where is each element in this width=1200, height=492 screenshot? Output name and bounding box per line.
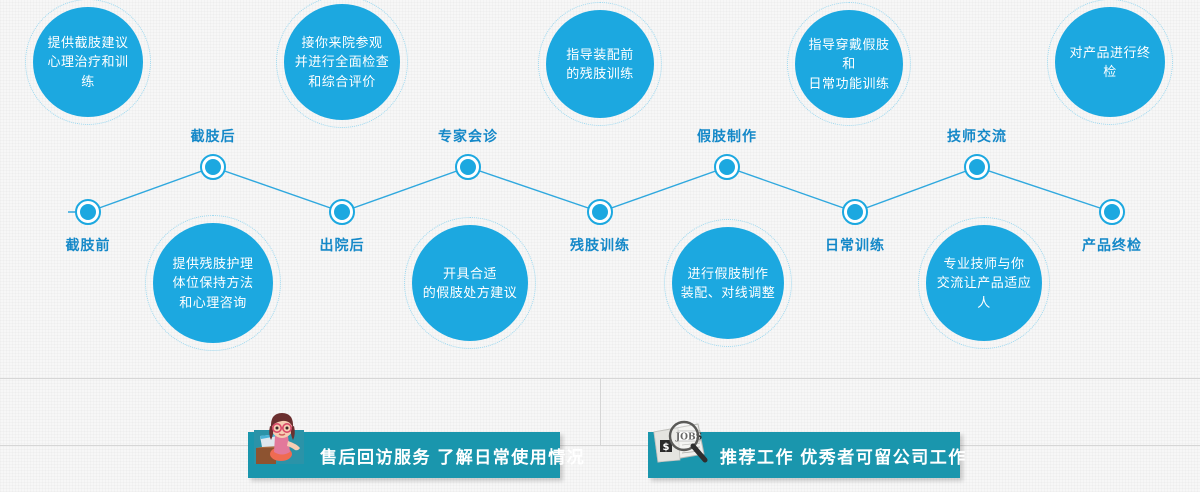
flow-node-prosthesis-make[interactable]: [714, 154, 740, 180]
bubble-stump-care-line: 提供残肢护理: [172, 254, 253, 274]
bubble-stump-training[interactable]: 指导装配前的残肢训练: [546, 10, 654, 118]
bubble-wear-training-line: 指导穿戴假肢和: [803, 35, 895, 74]
flow-node-post-discharge[interactable]: [329, 199, 355, 225]
flow-node-daily-training[interactable]: [842, 199, 868, 225]
bubble-fabrication-line: 进行假肢制作: [681, 264, 776, 284]
bubble-post-amputation[interactable]: 接你来院参观并进行全面检查和综合评价: [284, 4, 400, 120]
after-sales-banner[interactable]: 售后回访服务 了解日常使用情况: [248, 432, 560, 478]
bubble-prescription-label: 开具合适的假肢处方建议: [415, 264, 526, 303]
flow-node-pre-amputation[interactable]: [75, 199, 101, 225]
bubble-pre-amputation-line: 心理治疗和训练: [41, 52, 135, 91]
bubble-technician-line: 交流让产品适应人: [934, 273, 1034, 312]
bubble-final-check-line: 对产品进行终检: [1063, 43, 1157, 82]
woman-at-desk-icon: [248, 410, 310, 472]
flow-node-label-prosthesis-make: 假肢制作: [697, 126, 757, 146]
bubble-stump-care-line: 体位保持方法: [172, 273, 253, 293]
bubble-technician-line: 专业技师与你: [934, 254, 1034, 274]
flow-node-expert-consult[interactable]: [455, 154, 481, 180]
bubble-fabrication-label: 进行假肢制作装配、对线调整: [673, 264, 784, 303]
bubble-prescription[interactable]: 开具合适的假肢处方建议: [412, 225, 528, 341]
flow-node-label-expert-consult: 专家会诊: [438, 126, 498, 146]
divider-mid-rule: [0, 445, 1200, 446]
bubble-wear-training[interactable]: 指导穿戴假肢和日常功能训练: [795, 10, 903, 118]
bubble-stump-training-line: 指导装配前: [566, 45, 634, 65]
flow-node-final-inspection[interactable]: [1099, 199, 1125, 225]
flow-diagram-stage: 提供截肢建议心理治疗和训练接你来院参观并进行全面检查和综合评价指导装配前的残肢训…: [0, 0, 1200, 492]
bubble-final-check[interactable]: 对产品进行终检: [1055, 7, 1165, 117]
bubble-technician-label: 专业技师与你交流让产品适应人: [926, 254, 1042, 313]
bubble-post-amputation-label: 接你来院参观并进行全面检查和综合评价: [287, 33, 398, 92]
flow-node-label-stump-training: 残肢训练: [570, 235, 630, 255]
bubble-prescription-line: 的假肢处方建议: [423, 283, 518, 303]
flow-node-post-amputation[interactable]: [200, 154, 226, 180]
bubble-pre-amputation-line: 提供截肢建议: [41, 33, 135, 53]
flow-node-label-daily-training: 日常训练: [825, 235, 885, 255]
bubble-stump-care-line: 和心理咨询: [172, 293, 253, 313]
flow-node-technician-talk[interactable]: [964, 154, 990, 180]
bubble-pre-amputation-label: 提供截肢建议心理治疗和训练: [33, 33, 143, 92]
flow-node-label-post-discharge: 出院后: [320, 235, 365, 255]
flow-node-label-post-amputation: 截肢后: [191, 126, 236, 146]
flow-node-label-pre-amputation: 截肢前: [66, 235, 111, 255]
bubble-post-amputation-line: 和综合评价: [295, 72, 390, 92]
svg-text:$: $: [663, 442, 670, 453]
bubble-wear-training-line: 日常功能训练: [803, 74, 895, 94]
bubble-stump-training-line: 的残肢训练: [566, 64, 634, 84]
flow-node-label-final-inspection: 产品终检: [1082, 235, 1142, 255]
bubble-stump-training-label: 指导装配前的残肢训练: [558, 45, 642, 84]
divider-center-tick: [600, 378, 601, 445]
bubble-pre-amputation[interactable]: 提供截肢建议心理治疗和训练: [33, 7, 143, 117]
bubble-final-check-label: 对产品进行终检: [1055, 43, 1165, 82]
bubble-post-amputation-line: 并进行全面检查: [295, 52, 390, 72]
job-referral-banner[interactable]: JOBS$推荐工作 优秀者可留公司工作: [648, 432, 960, 478]
bubble-stump-care-label: 提供残肢护理体位保持方法和心理咨询: [164, 254, 261, 313]
bubble-wear-training-label: 指导穿戴假肢和日常功能训练: [795, 35, 903, 94]
bubble-technician[interactable]: 专业技师与你交流让产品适应人: [926, 225, 1042, 341]
bubble-fabrication[interactable]: 进行假肢制作装配、对线调整: [672, 227, 784, 339]
jobs-newspaper-magnifier-icon: JOBS$: [648, 410, 710, 472]
bubble-prescription-line: 开具合适: [423, 264, 518, 284]
bubble-post-amputation-line: 接你来院参观: [295, 33, 390, 53]
bubble-stump-care[interactable]: 提供残肢护理体位保持方法和心理咨询: [153, 223, 273, 343]
flow-node-label-technician-talk: 技师交流: [947, 126, 1007, 146]
flow-node-stump-training[interactable]: [587, 199, 613, 225]
bubble-fabrication-line: 装配、对线调整: [681, 283, 776, 303]
